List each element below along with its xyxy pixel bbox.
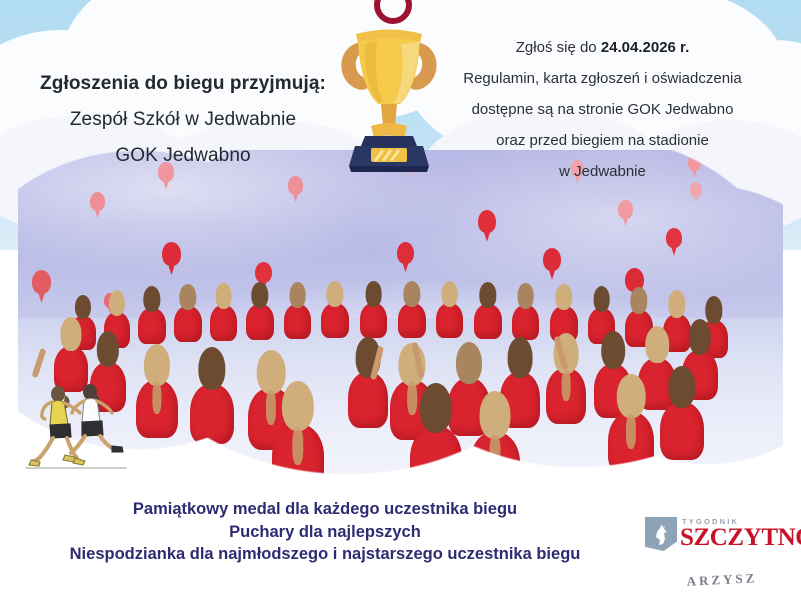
hot-air-balloon-icon [478, 210, 496, 233]
hot-air-balloon-icon [255, 262, 272, 283]
hot-air-balloon-icon [666, 228, 682, 248]
hot-air-balloon-icon [543, 248, 561, 271]
hot-air-balloon-icon [397, 242, 414, 264]
registration-org-school: Zespół Szkół w Jedwabnie [8, 102, 358, 138]
deadline-date: 24.04.2026 r. [601, 39, 689, 56]
details-line-3: dostępne są na stronie GOK Jedwabno [415, 94, 790, 125]
award-surprise: Niespodzianka dla najmłodszego i najstar… [0, 543, 650, 566]
hot-air-balloon-icon [162, 242, 181, 266]
award-cups: Puchary dla najlepszych [0, 521, 650, 544]
registration-org-gok: GOK Jedwabno [8, 138, 358, 174]
award-medal: Pamiątkowy medal dla każdego uczestnika … [0, 498, 650, 521]
registration-details-block: Zgłoś się do 24.04.2026 r. Regulamin, ka… [415, 32, 790, 187]
hot-air-balloon-icon [90, 192, 105, 211]
registration-heading: Zgłoszenia do biegu przyjmują: [8, 66, 358, 102]
sponsor-logo-tygodnik-szczytno[interactable]: TYGODNIK SZCZYTNO [645, 515, 763, 555]
hot-air-balloon-icon [618, 200, 633, 219]
awards-block: Pamiątkowy medal dla każdego uczestnika … [0, 498, 650, 566]
details-line-2: Regulamin, karta zgłoszeń i oświadczenia [415, 63, 790, 94]
deadline-line: Zgłoś się do 24.04.2026 r. [415, 32, 790, 63]
partial-seal-emblem: ARZYSZ [652, 572, 792, 600]
two-runners-icon [22, 378, 134, 473]
deadline-prefix: Zgłoś się do [516, 39, 601, 56]
deer-icon [651, 522, 671, 546]
details-line-4: oraz przed biegiem na stadionie [415, 125, 790, 156]
registration-contacts-block: Zgłoszenia do biegu przyjmują: Zespół Sz… [8, 66, 358, 174]
hot-air-balloon-icon [288, 176, 303, 195]
poster-canvas: Zgłoszenia do biegu przyjmują: Zespół Sz… [0, 0, 801, 600]
hot-air-balloon-icon [32, 270, 51, 294]
logo-wordmark: SZCZYTNO [680, 525, 801, 551]
details-line-5: w Jedwabnie [415, 156, 790, 187]
seal-text: ARZYSZ [652, 572, 792, 592]
